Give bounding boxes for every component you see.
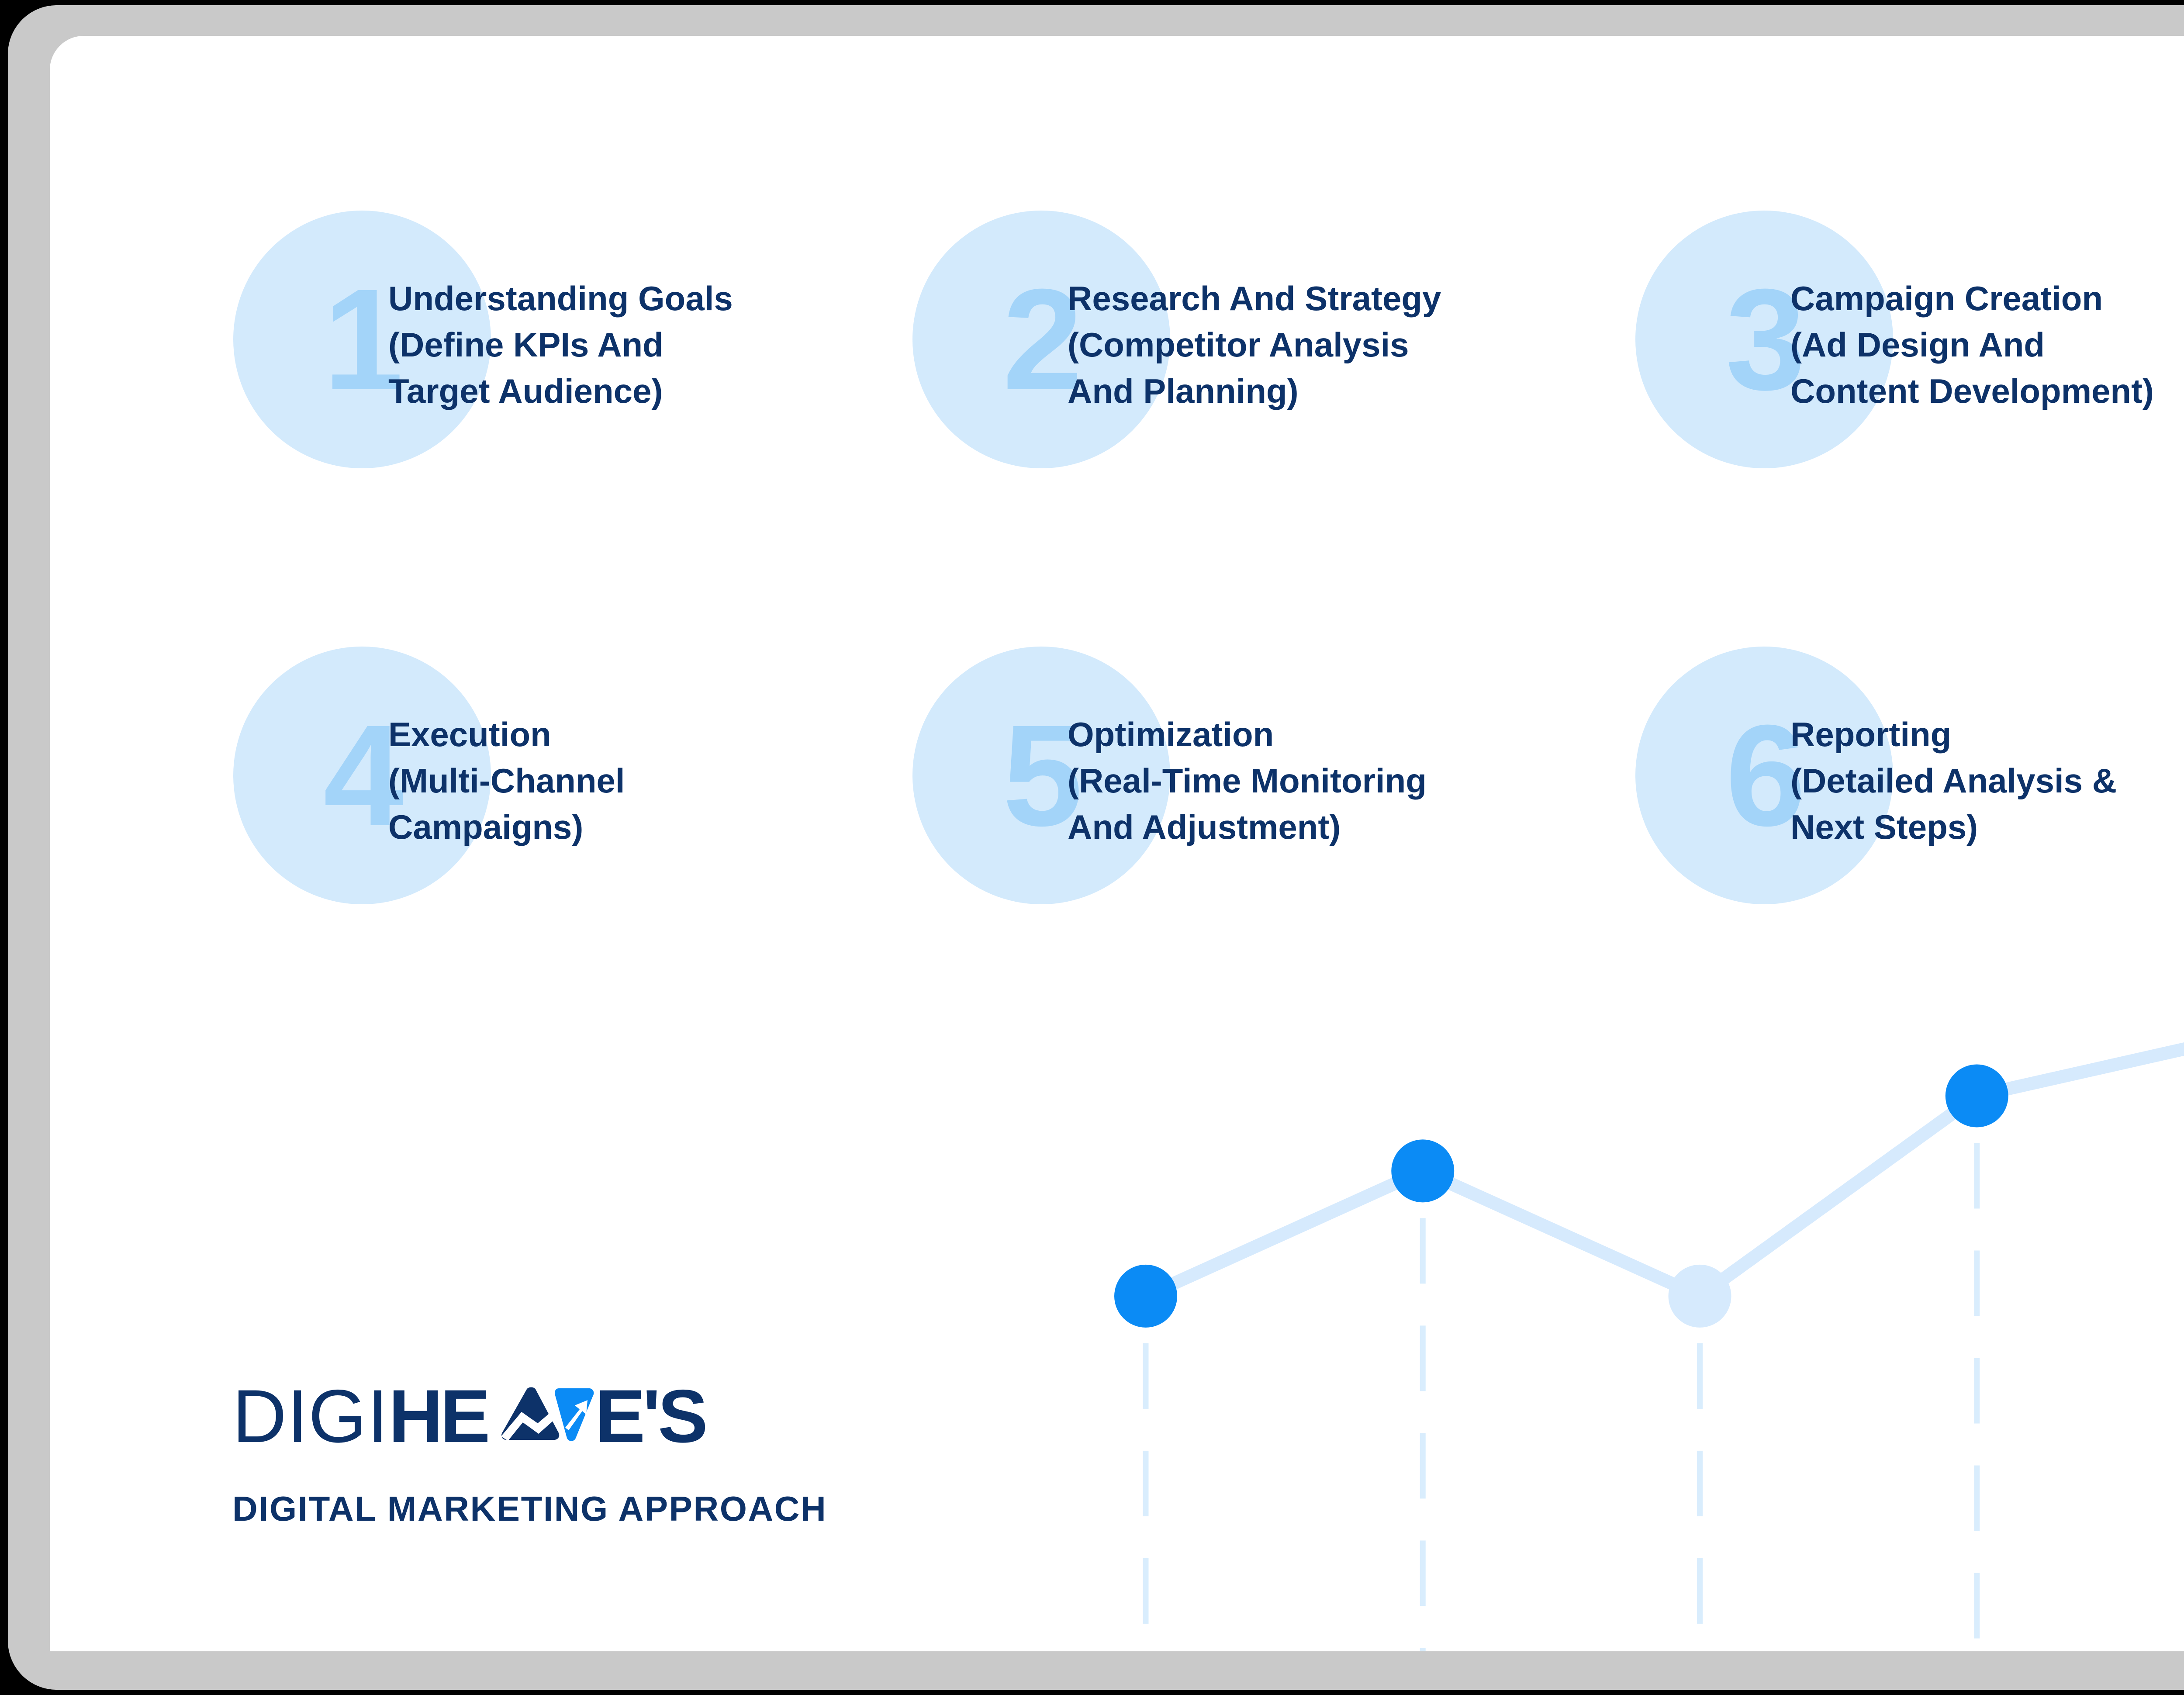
step-item-3[interactable]: 3 Campaign Creation (Ad Design And Conte… — [1635, 211, 2184, 499]
step-item-5[interactable]: 5 Optimization (Real-Time Monitoring And… — [912, 647, 1655, 935]
chart-line-path — [1146, 1033, 2184, 1296]
logo-wordmark: DIGI HE E'S — [232, 1373, 975, 1460]
chart-marker — [1946, 1065, 2008, 1128]
step-label-1: Understanding Goals (Define KPIs And Tar… — [388, 275, 965, 414]
chart-marker — [1391, 1139, 1454, 1202]
device-frame: 1 Understanding Goals (Define KPIs And T… — [8, 5, 2184, 1690]
step-item-2[interactable]: 2 Research And Strategy (Competitor Anal… — [912, 211, 1655, 499]
step-item-1[interactable]: 1 Understanding Goals (Define KPIs And T… — [233, 211, 976, 499]
step-label-3: Campaign Creation (Ad Design And Content… — [1790, 275, 2184, 414]
step-label-6: Reporting (Detailed Analysis & Next Step… — [1790, 711, 2184, 850]
step-item-4[interactable]: 4 Execution (Multi-Channel Campaigns) — [233, 647, 976, 935]
chart-marker — [1114, 1265, 1177, 1328]
steps-grid: 1 Understanding Goals (Define KPIs And T… — [50, 36, 2184, 910]
chart-marker — [1669, 1265, 1731, 1328]
step-item-6[interactable]: 6 Reporting (Detailed Analysis & Next St… — [1635, 647, 2184, 935]
chart-markers — [1114, 1002, 2184, 1328]
step-label-4: Execution (Multi-Channel Campaigns) — [388, 711, 965, 850]
step-label-2: Research And Strategy (Competitor Analys… — [1068, 275, 1644, 414]
chart-drop-lines — [1146, 1080, 2184, 1651]
tagline: DIGITAL MARKETING APPROACH — [232, 1491, 975, 1526]
logo-text-digi: DIGI — [232, 1379, 389, 1454]
logo-text-es: E'S — [595, 1379, 705, 1454]
infographic-card: 1 Understanding Goals (Define KPIs And T… — [50, 36, 2184, 1651]
logo-text-he: HE — [389, 1379, 488, 1454]
branding-block: DIGI HE E'S DIGITAL MARKETI — [232, 1373, 975, 1526]
step-label-5: Optimization (Real-Time Monitoring And A… — [1068, 711, 1644, 850]
digiheaves-arrow-mark-icon — [485, 1386, 594, 1456]
